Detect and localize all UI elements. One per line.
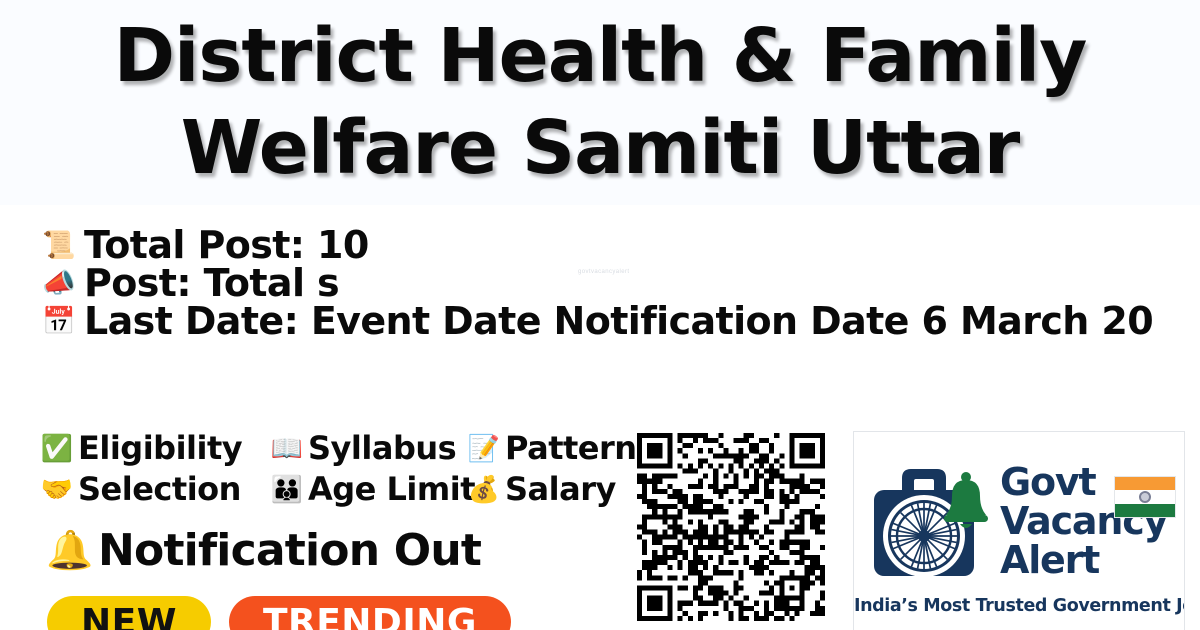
feature-salary-label: Salary [505, 472, 616, 506]
bell-notification-icon: 🔔 [42, 525, 98, 577]
flag-band-saffron [1115, 477, 1175, 490]
poster-root: District Health & Family Welfare Samiti … [0, 0, 1200, 630]
india-flag-icon [1114, 476, 1176, 518]
breaking-news-icon: 📣 [40, 266, 78, 300]
badge-group: NEW TRENDING [47, 596, 511, 630]
feature-syllabus-label: Syllabus [308, 431, 456, 465]
briefcase-chakra-bell-icon [866, 456, 994, 586]
notification-out-label: Notification Out [98, 526, 481, 576]
page-title-line-2: Welfare Samiti Uttar [0, 102, 1200, 194]
logo-inner: Govt Vacancy Alert [854, 446, 1184, 596]
flag-band-green [1115, 504, 1175, 517]
new-badge[interactable]: NEW [47, 596, 211, 630]
document-icon: 📜 [40, 228, 78, 262]
family-people-icon: 👪 [270, 472, 304, 506]
feature-pattern: 📝 Pattern [467, 431, 647, 465]
page-title-line-1: District Health & Family [0, 10, 1200, 102]
flag-chakra-icon [1139, 491, 1151, 503]
detail-row-last-date: 📅 Last Date: Event Date Notification Dat… [40, 302, 1200, 340]
title-band: District Health & Family Welfare Samiti … [0, 0, 1200, 205]
feature-pattern-label: Pattern [505, 431, 637, 465]
feature-eligibility: ✅ Eligibility [40, 431, 270, 465]
feature-selection-label: Selection [78, 472, 241, 506]
features-row-2: 🤝 Selection 👪 Age Limit 💰 Salary [40, 468, 640, 509]
page-title: District Health & Family Welfare Samiti … [0, 10, 1200, 194]
selection-hand-icon: 🤝 [40, 472, 74, 506]
features-grid: ✅ Eligibility 📖 Syllabus 📝 Pattern 🤝 Sel… [40, 427, 640, 509]
detail-row-total-post: 📜 Total Post: 10 [40, 226, 1200, 264]
feature-eligibility-label: Eligibility [78, 431, 242, 465]
feature-age-limit-label: Age Limit [308, 472, 475, 506]
flag-band-white [1115, 490, 1175, 503]
detail-post-text: Post: Total s [84, 264, 339, 302]
govt-vacancy-alert-logo[interactable]: Govt Vacancy Alert India’s Most Trusted … [853, 431, 1185, 630]
check-mark-icon: ✅ [40, 431, 74, 465]
detail-last-date-text: Last Date: Event Date Notification Date … [84, 302, 1153, 340]
logo-tagline: India’s Most Trusted Government Job Aler… [854, 596, 1185, 616]
qr-code-canvas [637, 433, 825, 621]
money-bag-icon: 💰 [467, 472, 501, 506]
exam-paper-icon: 📝 [467, 431, 501, 465]
notification-out: 🔔 Notification Out [42, 525, 481, 577]
feature-age-limit: 👪 Age Limit [270, 472, 467, 506]
feature-selection: 🤝 Selection [40, 472, 270, 506]
detail-total-post-text: Total Post: 10 [84, 226, 369, 264]
features-row-1: ✅ Eligibility 📖 Syllabus 📝 Pattern [40, 427, 640, 468]
details-list: 📜 Total Post: 10 📣 Post: Total s 📅 Last … [40, 226, 1200, 340]
feature-salary: 💰 Salary [467, 472, 647, 506]
trending-badge[interactable]: TRENDING [229, 596, 511, 630]
detail-row-post: 📣 Post: Total s [40, 264, 1200, 302]
logo-word-alert: Alert [1000, 541, 1167, 580]
open-book-icon: 📖 [270, 431, 304, 465]
qr-code[interactable] [637, 433, 825, 621]
body-area: govtvacancyalert 📜 Total Post: 10 📣 Post… [0, 205, 1200, 630]
feature-syllabus: 📖 Syllabus [270, 431, 467, 465]
calendar-icon: 📅 [40, 304, 78, 338]
